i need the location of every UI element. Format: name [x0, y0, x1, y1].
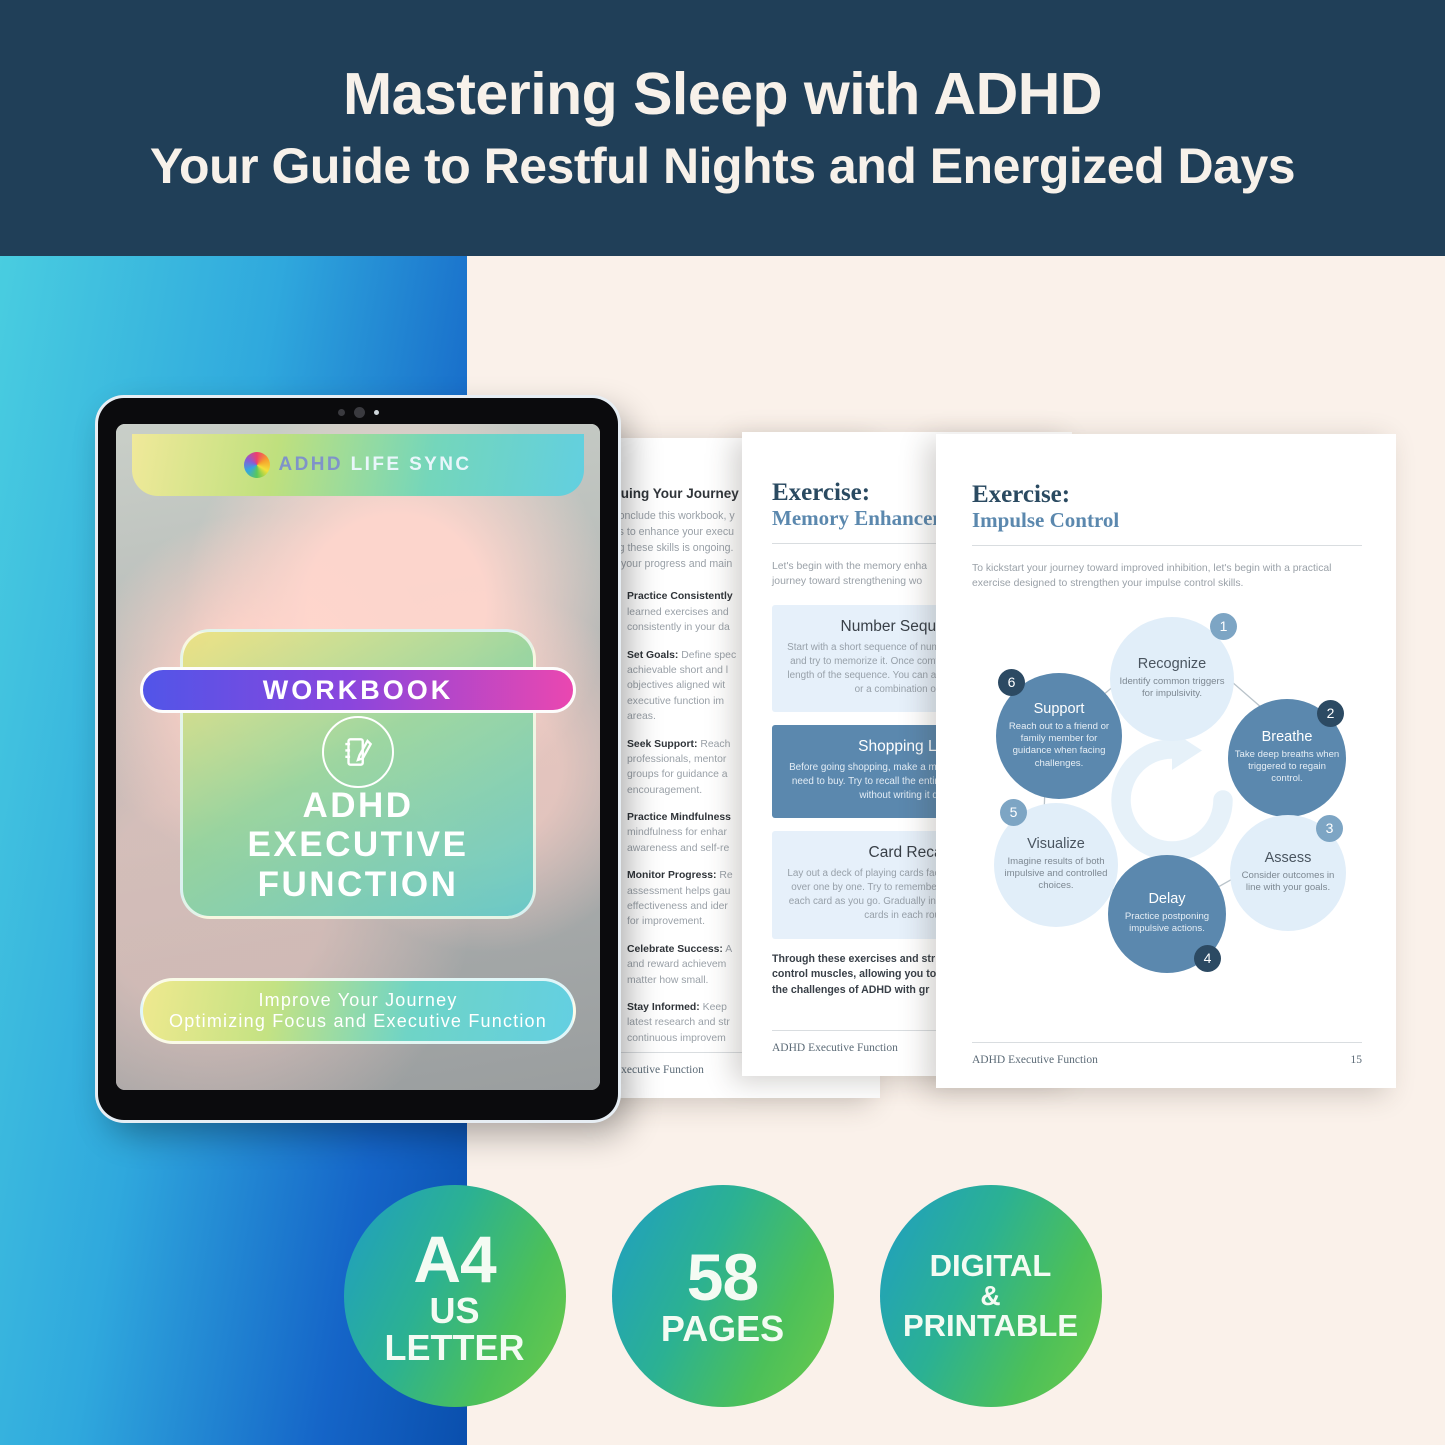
- list-item-text: Set Goals: Define spec achievable short …: [627, 647, 736, 725]
- tip-label: Monitor Progress:: [627, 870, 716, 881]
- cycle-node-number-3: 3: [1316, 815, 1343, 842]
- exercise-heading: Exercise:: [972, 482, 1362, 509]
- list-item-text: Celebrate Success: A and reward achievem…: [627, 941, 732, 988]
- badge-delivery: DIGITAL & PRINTABLE: [880, 1185, 1102, 1407]
- page-subtitle: Your Guide to Restful Nights and Energiz…: [150, 140, 1295, 193]
- cycle-node-number-4: 4: [1194, 945, 1221, 972]
- document-page-impulse-control: Exercise: Impulse Control To kickstart y…: [936, 434, 1396, 1088]
- node-title: Breathe: [1262, 730, 1313, 746]
- brand-logo-bar: ADHD LIFE SYNC: [132, 434, 584, 496]
- badge-page-count: 58 PAGES: [612, 1185, 834, 1407]
- cover-subtitle-pill: Improve Your Journey Optimizing Focus an…: [140, 978, 576, 1044]
- tip-label: Seek Support:: [627, 739, 697, 750]
- cycle-node-number-2: 2: [1317, 700, 1344, 727]
- list-item-text: Monitor Progress: Re assessment helps ga…: [627, 867, 733, 930]
- tip-label: Practice Consistently: [627, 591, 733, 602]
- node-desc: Practice postponing impulsive actions.: [1114, 911, 1220, 936]
- tablet-camera-sensors: [98, 407, 618, 418]
- tip-label: Practice Mindfulness: [627, 812, 731, 823]
- list-item-text: Practice Consistently learned exercises …: [627, 588, 733, 635]
- footer-label: ADHD Executive Function: [772, 1042, 898, 1054]
- node-desc: Reach out to a friend or family member f…: [1002, 721, 1116, 770]
- node-desc: Identify common triggers for impulsivity…: [1116, 676, 1228, 701]
- badge-format-size: A4: [413, 1226, 495, 1293]
- divider: [972, 545, 1362, 546]
- brain-logo-icon: [244, 452, 270, 478]
- notebook-pen-icon: [322, 716, 394, 788]
- cycle-node-number-5: 5: [1000, 799, 1027, 826]
- brand-name: ADHD LIFE SYNC: [278, 454, 471, 476]
- header-banner: Mastering Sleep with ADHD Your Guide to …: [0, 0, 1445, 256]
- badge-format-letter: LETTER: [385, 1330, 525, 1367]
- badge-format: A4 US LETTER: [344, 1185, 566, 1407]
- cover-subtitle-line-2: Optimizing Focus and Executive Function: [169, 1011, 547, 1032]
- node-title: Support: [1034, 702, 1085, 718]
- cover-title-line-1: ADHD: [302, 787, 413, 825]
- tablet-device-mockup: ADHD LIFE SYNC ADHD EXECUTIVE FUNCTION W…: [98, 398, 618, 1120]
- tip-label: Set Goals:: [627, 650, 678, 661]
- node-desc: Imagine results of both impulsive and co…: [1000, 856, 1112, 893]
- badge-format-us: US: [429, 1293, 479, 1330]
- exercise-subheading: Impulse Control: [972, 509, 1362, 532]
- cycle-node-number-6: 6: [998, 669, 1025, 696]
- page-footer: ADHD Executive Function 15: [972, 1042, 1362, 1066]
- badge-page-number: 58: [687, 1244, 758, 1311]
- impulse-control-cycle-diagram: Recognize Identify common triggers for i…: [972, 607, 1372, 977]
- badge-ampersand: &: [980, 1282, 1000, 1311]
- footer-label: ADHD Executive Function: [972, 1054, 1098, 1066]
- page-title: Mastering Sleep with ADHD: [343, 64, 1102, 126]
- badge-digital-label: DIGITAL: [930, 1250, 1052, 1282]
- list-item-text: Practice Mindfulness mindfulness for enh…: [627, 809, 731, 856]
- node-desc: Take deep breaths when triggered to rega…: [1234, 749, 1340, 786]
- exercise-lead: To kickstart your journey toward improve…: [972, 561, 1362, 592]
- camera-lens-icon: [354, 407, 365, 418]
- cover-title-line-3: FUNCTION: [258, 866, 459, 904]
- sensor-dot: [338, 409, 345, 416]
- list-item-text: Stay Informed: Keep latest research and …: [627, 999, 730, 1046]
- workbook-badge: WORKBOOK: [140, 667, 576, 713]
- product-feature-badges: A4 US LETTER 58 PAGES DIGITAL & PRINTABL…: [0, 1185, 1445, 1407]
- page-number: 15: [1351, 1054, 1363, 1066]
- tip-label: Celebrate Success:: [627, 944, 723, 955]
- sensor-dot: [374, 410, 379, 415]
- list-item-text: Seek Support: Reach professionals, mento…: [627, 736, 730, 799]
- tablet-screen: ADHD LIFE SYNC ADHD EXECUTIVE FUNCTION W…: [116, 424, 600, 1090]
- badge-page-label: PAGES: [661, 1311, 784, 1348]
- node-desc: Consider outcomes in line with your goal…: [1236, 870, 1340, 895]
- cover-subtitle-line-1: Improve Your Journey: [258, 990, 457, 1011]
- node-title: Delay: [1148, 892, 1185, 908]
- cycle-node-number-1: 1: [1210, 613, 1237, 640]
- cover-title-line-2: EXECUTIVE: [248, 826, 469, 864]
- node-title: Assess: [1265, 851, 1312, 867]
- badge-printable-label: PRINTABLE: [903, 1310, 1078, 1342]
- node-title: Visualize: [1027, 837, 1085, 853]
- node-title: Recognize: [1138, 657, 1207, 673]
- tip-label: Stay Informed:: [627, 1002, 700, 1013]
